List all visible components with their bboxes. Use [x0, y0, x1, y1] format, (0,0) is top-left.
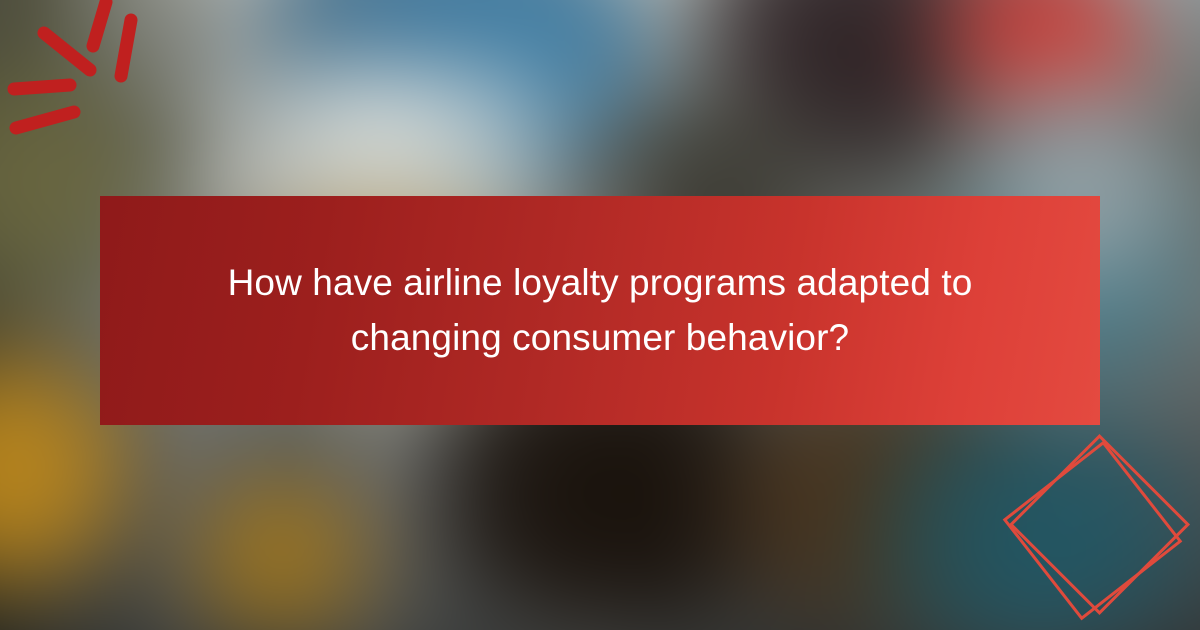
headline-text: How have airline loyalty programs adapte… — [100, 256, 1100, 364]
social-card: How have airline loyalty programs adapte… — [0, 0, 1200, 630]
headline-banner: How have airline loyalty programs adapte… — [100, 196, 1100, 425]
